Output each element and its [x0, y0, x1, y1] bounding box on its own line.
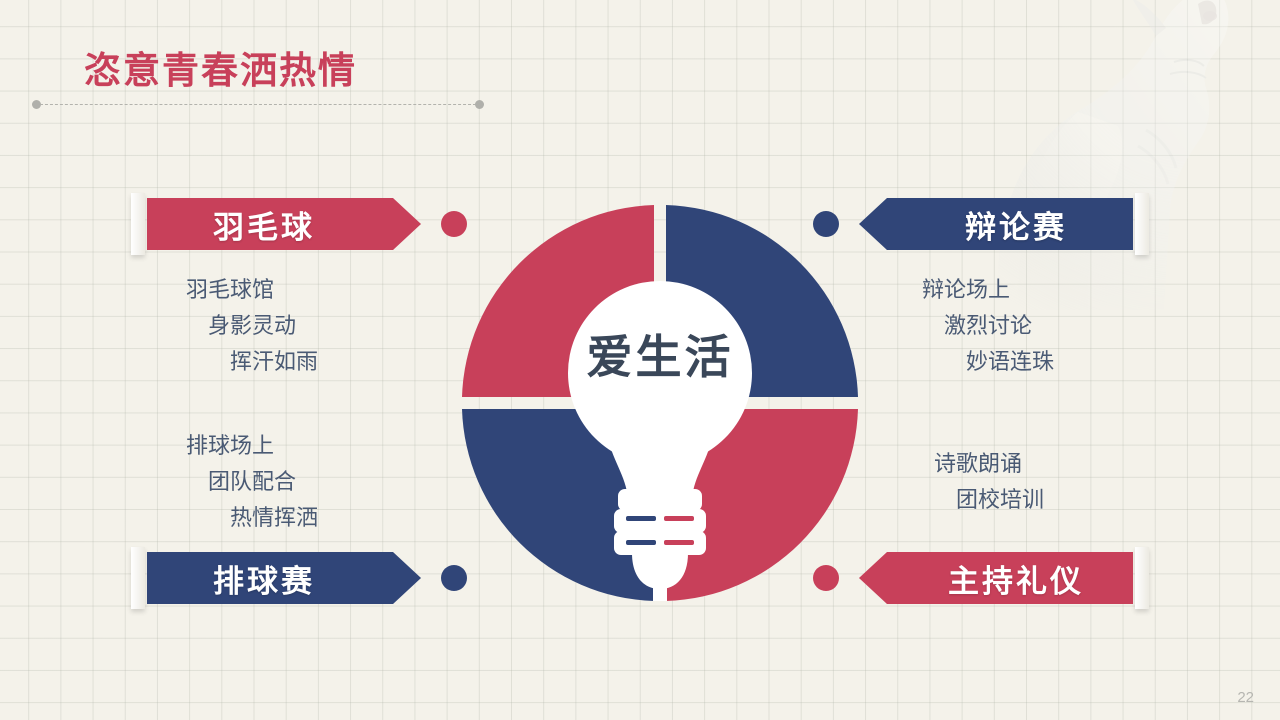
connector-dot-debate	[813, 211, 839, 237]
banner-notch	[1135, 193, 1149, 255]
banner-badminton[interactable]: 羽毛球	[131, 198, 421, 250]
banner-volleyball[interactable]: 排球赛	[131, 552, 421, 604]
text-line: 身影灵动	[186, 308, 318, 344]
banner-label: 辩论赛	[941, 202, 1067, 247]
text-line: 热情挥洒	[186, 500, 318, 536]
text-block-hosting: 诗歌朗诵 团校培训	[934, 446, 1044, 518]
dotted-divider	[32, 103, 484, 106]
text-line: 妙语连珠	[922, 344, 1054, 380]
divider-line	[40, 104, 476, 105]
text-block-volleyball: 排球场上 团队配合 热情挥洒	[186, 428, 318, 536]
text-line: 排球场上	[186, 428, 318, 464]
banner-notch	[131, 193, 145, 255]
banner-label: 羽毛球	[213, 202, 339, 247]
text-line: 团队配合	[186, 464, 318, 500]
page-number: 22	[1237, 689, 1254, 706]
connector-dot-hosting	[813, 565, 839, 591]
banner-notch	[131, 547, 145, 609]
banner-debate[interactable]: 辩论赛	[859, 198, 1149, 250]
banner-hosting[interactable]: 主持礼仪	[859, 552, 1149, 604]
text-line: 羽毛球馆	[186, 272, 318, 308]
connector-dot-volleyball	[441, 565, 467, 591]
text-line: 激烈讨论	[922, 308, 1054, 344]
quadrant-donut-chart	[450, 193, 870, 613]
banner-label: 排球赛	[213, 556, 339, 601]
text-block-debate: 辩论场上 激烈讨论 妙语连珠	[922, 272, 1054, 380]
text-line: 辩论场上	[922, 272, 1054, 308]
divider-dot-right	[475, 100, 484, 109]
text-line: 挥汗如雨	[186, 344, 318, 380]
text-line: 团校培训	[934, 482, 1044, 518]
slide-canvas: 恣意青春洒热情	[0, 0, 1280, 720]
connector-dot-badminton	[441, 211, 467, 237]
text-line: 诗歌朗诵	[934, 446, 1044, 482]
slide-title: 恣意青春洒热情	[84, 40, 357, 94]
text-block-badminton: 羽毛球馆 身影灵动 挥汗如雨	[186, 272, 318, 380]
howling-wolf-photo	[960, 0, 1280, 310]
banner-notch	[1135, 547, 1149, 609]
banner-label: 主持礼仪	[924, 556, 1084, 601]
